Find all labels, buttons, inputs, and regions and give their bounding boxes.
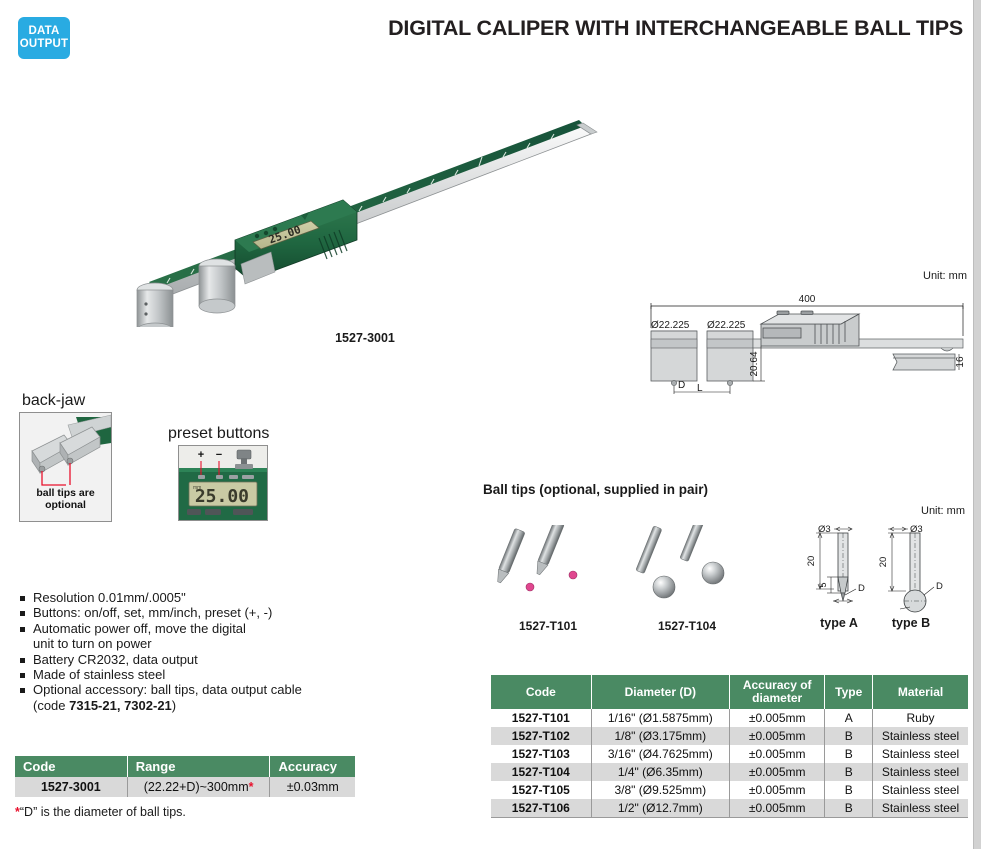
tips-header-type: Type <box>825 675 873 709</box>
tips-cell-code: 1527-T106 <box>491 799 591 818</box>
spec-range-asterisk: * <box>249 780 254 794</box>
feature-item-battery: Battery CR2032, data output <box>18 652 418 667</box>
tips-cell-diameter: 1/4" (Ø6.35mm) <box>591 763 729 781</box>
tips-cell-accuracy: ±0.005mm <box>729 745 824 763</box>
back-jaw-caption-line2: optional <box>19 499 112 511</box>
tips-cell-material: Ruby <box>873 709 968 727</box>
tips-header-code: Code <box>491 675 591 709</box>
tips-header-material: Material <box>873 675 968 709</box>
table-row: 1527-T106 1/2" (Ø12.7mm) ±0.005mm B Stai… <box>491 799 968 818</box>
spec-cell-range: (22.22+D)~300mm* <box>127 777 270 797</box>
accessory-codes: 7315-21, 7302-21 <box>69 698 172 713</box>
tips-cell-diameter: 3/16" (Ø4.7625mm) <box>591 745 729 763</box>
spec-header-range: Range <box>127 756 270 777</box>
dim-total-length: 400 <box>799 294 816 305</box>
catalog-page: DATA OUTPUT DIGITAL CALIPER WITH INTERCH… <box>0 0 981 849</box>
spec-header-accuracy: Accuracy <box>270 756 355 777</box>
back-jaw-label: back-jaw <box>22 392 132 410</box>
feature-item-auto-power-off: Automatic power off, move the digital un… <box>18 621 418 652</box>
dim-thickness: 16 <box>955 356 966 368</box>
spec-range-value: (22.22+D)~300mm <box>144 780 249 794</box>
tips-cell-code: 1527-T103 <box>491 745 591 763</box>
preset-plus-symbol: + <box>198 449 204 461</box>
data-output-badge: DATA OUTPUT <box>18 17 70 59</box>
tips-header-accuracy-line2: diameter <box>752 691 802 705</box>
table-row: 1527-T104 1/4" (Ø6.35mm) ±0.005mm B Stai… <box>491 763 968 781</box>
spec-cell-accuracy: ±0.03mm <box>270 777 355 797</box>
spec-header-code: Code <box>15 756 127 777</box>
tips-cell-type: B <box>825 799 873 818</box>
tips-cell-diameter: 3/8" (Ø9.525mm) <box>591 781 729 799</box>
ball-tips-table: Code Diameter (D) Accuracy of diameter T… <box>491 675 968 818</box>
spec-table-header-row: Code Range Accuracy <box>15 756 355 777</box>
feature-resolution-text: Resolution 0.01mm/.0005" <box>33 590 186 605</box>
feature-list: Resolution 0.01mm/.0005" Buttons: on/off… <box>18 590 418 713</box>
type-b-d-label: D <box>936 581 943 592</box>
tips-cell-diameter: 1/16" (Ø1.5875mm) <box>591 709 729 727</box>
back-jaw-caption-line1: ball tips are <box>19 487 112 499</box>
feature-item-material: Made of stainless steel <box>18 667 418 682</box>
type-a-caption: type A <box>808 616 870 630</box>
tips-cell-code: 1527-T104 <box>491 763 591 781</box>
tips-cell-diameter: 1/8" (Ø3.175mm) <box>591 727 729 745</box>
tips-cell-material: Stainless steel <box>873 763 968 781</box>
ball-tips-section-title: Ball tips (optional, supplied in pair) <box>483 482 708 497</box>
preset-buttons-photo: + − 25.00 mm <box>178 445 268 521</box>
feature-battery-text: Battery CR2032, data output <box>33 652 198 667</box>
feature-item-buttons: Buttons: on/off, set, mm/inch, preset (+… <box>18 605 418 620</box>
feature-autopower-line2: unit to turn on power <box>33 636 418 651</box>
page-title: DIGITAL CALIPER WITH INTERCHANGEABLE BAL… <box>388 16 963 41</box>
type-b-caption: type B <box>880 616 942 630</box>
type-a-d-label: D <box>858 583 865 594</box>
dim-diameter-1: Ø22.225 <box>651 320 690 331</box>
feature-item-accessory: Optional accessory: ball tips, data outp… <box>18 682 418 713</box>
tips-table-body: 1527-T101 1/16" (Ø1.5875mm) ±0.005mm A R… <box>491 709 968 818</box>
type-b-length-label: 20 <box>878 557 889 568</box>
ball-tips-unit-label: Unit: mm <box>921 505 965 517</box>
page-edge-strip <box>973 0 981 849</box>
badge-line-1: DATA <box>28 25 59 38</box>
back-jaw-caption: ball tips are optional <box>19 487 112 511</box>
table-row: 1527-T105 3/8" (Ø9.525mm) ±0.005mm B Sta… <box>491 781 968 799</box>
feature-accessory-line2: (code 7315-21, 7302-21) <box>33 698 418 713</box>
specification-table: Code Range Accuracy 1527-3001 (22.22+D)~… <box>15 756 355 797</box>
ball-tip-caption-t101: 1527-T101 <box>489 619 607 633</box>
tips-cell-diameter: 1/2" (Ø12.7mm) <box>591 799 729 818</box>
type-a-tip-label: 5 <box>818 582 828 587</box>
feature-buttons-text: Buttons: on/off, set, mm/inch, preset (+… <box>33 605 272 620</box>
spec-cell-code: 1527-3001 <box>15 777 127 797</box>
tips-cell-material: Stainless steel <box>873 745 968 763</box>
product-photo-caliper: 25.00 <box>105 112 625 327</box>
product-photo-caption: 1527-3001 <box>105 331 625 345</box>
tips-cell-code: 1527-T102 <box>491 727 591 745</box>
ball-tip-photo-t101 <box>489 525 607 610</box>
footnote: *“D” is the diameter of ball tips. <box>15 805 186 819</box>
preset-lcd-value: 25.00 <box>195 486 249 507</box>
dim-diameter-2: Ø22.225 <box>707 320 746 331</box>
tips-cell-type: B <box>825 745 873 763</box>
tips-cell-accuracy: ±0.005mm <box>729 781 824 799</box>
dim-l-label: L <box>697 383 703 394</box>
tips-cell-type: B <box>825 763 873 781</box>
table-row: 1527-T102 1/8" (Ø3.175mm) ±0.005mm B Sta… <box>491 727 968 745</box>
tips-cell-code: 1527-T101 <box>491 709 591 727</box>
tips-header-diameter: Diameter (D) <box>591 675 729 709</box>
table-row: 1527-3001 (22.22+D)~300mm* ±0.03mm <box>15 777 355 797</box>
svg-text:mm: mm <box>193 485 201 491</box>
dim-d-label: D <box>678 380 685 391</box>
ball-tip-type-drawings: Unit: mm Ø3 <box>800 505 975 605</box>
tips-cell-type: B <box>825 781 873 799</box>
drawing-unit-label: Unit: mm <box>923 270 967 282</box>
ball-tip-photo-t104 <box>628 525 746 610</box>
tips-cell-accuracy: ±0.005mm <box>729 709 824 727</box>
tips-cell-type: A <box>825 709 873 727</box>
tips-cell-accuracy: ±0.005mm <box>729 727 824 745</box>
dim-height: 20.64 <box>749 351 760 376</box>
preset-minus-symbol: − <box>216 449 222 461</box>
tips-table-header-row: Code Diameter (D) Accuracy of diameter T… <box>491 675 968 709</box>
badge-line-2: OUTPUT <box>20 38 68 51</box>
tips-header-accuracy-line1: Accuracy of <box>743 678 812 692</box>
tips-cell-material: Stainless steel <box>873 781 968 799</box>
feature-accessory-line1: Optional accessory: ball tips, data outp… <box>33 682 302 697</box>
tips-cell-code: 1527-T105 <box>491 781 591 799</box>
tips-cell-material: Stainless steel <box>873 799 968 818</box>
feature-item-resolution: Resolution 0.01mm/.0005" <box>18 590 418 605</box>
tips-cell-accuracy: ±0.005mm <box>729 799 824 818</box>
table-row: 1527-T103 3/16" (Ø4.7625mm) ±0.005mm B S… <box>491 745 968 763</box>
ball-tip-caption-t104: 1527-T104 <box>628 619 746 633</box>
preset-buttons-label: preset buttons <box>168 425 278 443</box>
tips-cell-accuracy: ±0.005mm <box>729 763 824 781</box>
feature-material-text: Made of stainless steel <box>33 667 165 682</box>
accessory-code-suffix: ) <box>172 698 176 713</box>
accessory-code-prefix: (code <box>33 698 69 713</box>
tips-cell-material: Stainless steel <box>873 727 968 745</box>
tips-cell-type: B <box>825 727 873 745</box>
type-a-length-label: 20 <box>806 556 817 567</box>
footnote-text: “D” is the diameter of ball tips. <box>20 805 186 819</box>
dimension-drawing-caliper: Unit: mm 400 Ø22.225 Ø22.225 <box>645 270 975 390</box>
tips-header-accuracy: Accuracy of diameter <box>729 675 824 709</box>
feature-autopower-line1: Automatic power off, move the digital <box>33 621 246 636</box>
table-row: 1527-T101 1/16" (Ø1.5875mm) ±0.005mm A R… <box>491 709 968 727</box>
